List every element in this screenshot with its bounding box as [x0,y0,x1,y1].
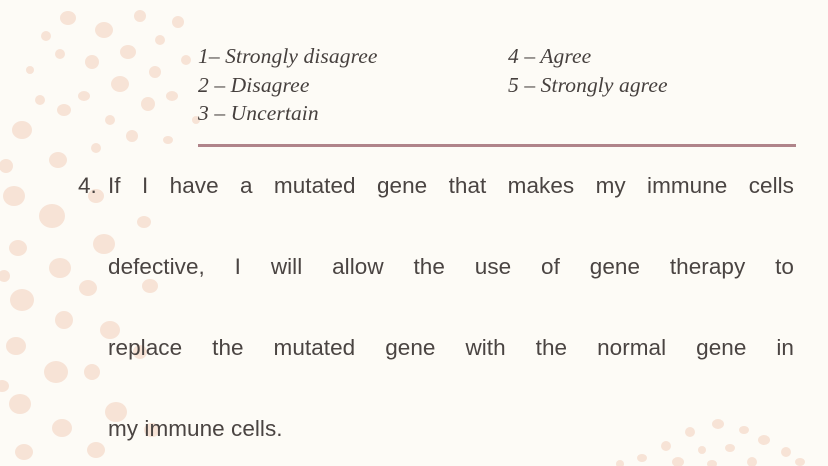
question-number-5: 5. [78,458,97,466]
question-4-line-3: replace the mutated gene with the normal… [108,328,794,409]
legend-column-left: 1– Strongly disagree 2 – Disagree 3 – Un… [198,42,508,128]
question-item-5: 5. If the process is available, I will d… [78,458,794,466]
question-list: 4. If I have a mutated gene that makes m… [78,166,794,466]
legend-item-2: 2 – Disagree [198,71,508,100]
likert-scale-legend: 1– Strongly disagree 2 – Disagree 3 – Un… [198,42,808,128]
legend-item-5: 5 – Strongly agree [508,71,808,100]
legend-item-3: 3 – Uncertain [198,99,508,128]
legend-item-1: 1– Strongly disagree [198,42,508,71]
question-4-line-1: If I have a mutated gene that makes my i… [108,166,794,247]
slide-canvas: 1– Strongly disagree 2 – Disagree 3 – Un… [0,0,828,466]
question-5-line-1: If the process is available, I will dete… [108,458,794,466]
question-4-line-2: defective, I will allow the use of gene … [108,247,794,328]
question-text-4: If I have a mutated gene that makes my i… [108,166,794,450]
horizontal-divider [198,144,796,147]
question-text-5: If the process is available, I will dete… [108,458,794,466]
question-number-4: 4. [78,166,97,207]
question-item-4: 4. If I have a mutated gene that makes m… [78,166,794,450]
legend-item-4: 4 – Agree [508,42,808,71]
legend-column-right: 4 – Agree 5 – Strongly agree [508,42,808,128]
question-4-line-4: my immune cells. [108,409,794,450]
